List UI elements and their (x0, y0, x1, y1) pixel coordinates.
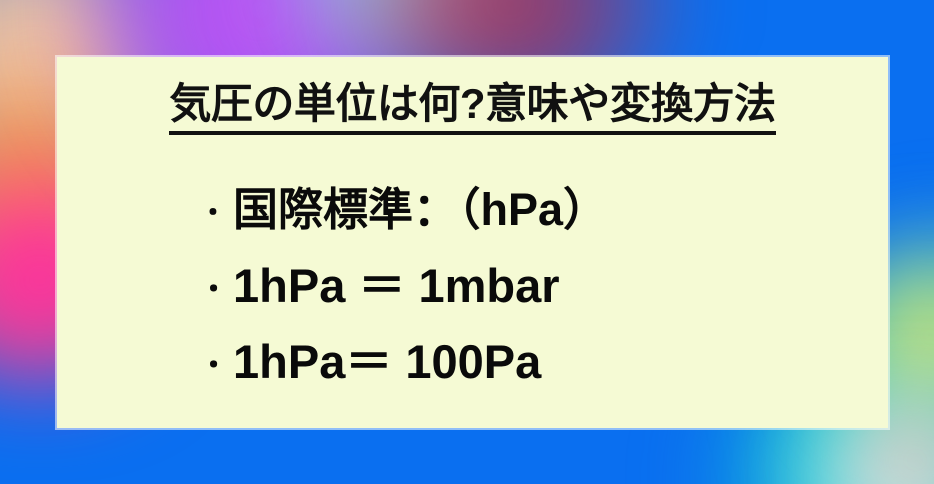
bullet-list: ・ 国際標準：（hPa） ・ 1hPa ＝ 1mbar ・ 1hPa＝ 100P… (199, 172, 868, 400)
slide-title: 気圧の単位は何?意味や変換方法 (57, 82, 888, 135)
list-item: ・ 1hPa ＝ 1mbar (199, 248, 868, 324)
bullet-point-icon: ・ (199, 199, 233, 227)
bullet-point-icon: ・ (199, 276, 233, 305)
list-item: ・ 1hPa＝ 100Pa (199, 324, 868, 400)
list-item: ・ 国際標準：（hPa） (199, 172, 868, 248)
list-item-label: 1hPa ＝ 1mbar (233, 248, 560, 324)
bullet-point-icon: ・ (199, 352, 233, 381)
slide-title-text: 気圧の単位は何?意味や変換方法 (169, 82, 775, 135)
slide-canvas: 気圧の単位は何?意味や変換方法 ・ 国際標準：（hPa） ・ 1hPa ＝ 1m… (0, 0, 934, 484)
list-item-label: 1hPa＝ 100Pa (233, 324, 541, 400)
list-item-label: 国際標準：（hPa） (233, 172, 608, 248)
content-card: 気圧の単位は何?意味や変換方法 ・ 国際標準：（hPa） ・ 1hPa ＝ 1m… (57, 57, 888, 428)
